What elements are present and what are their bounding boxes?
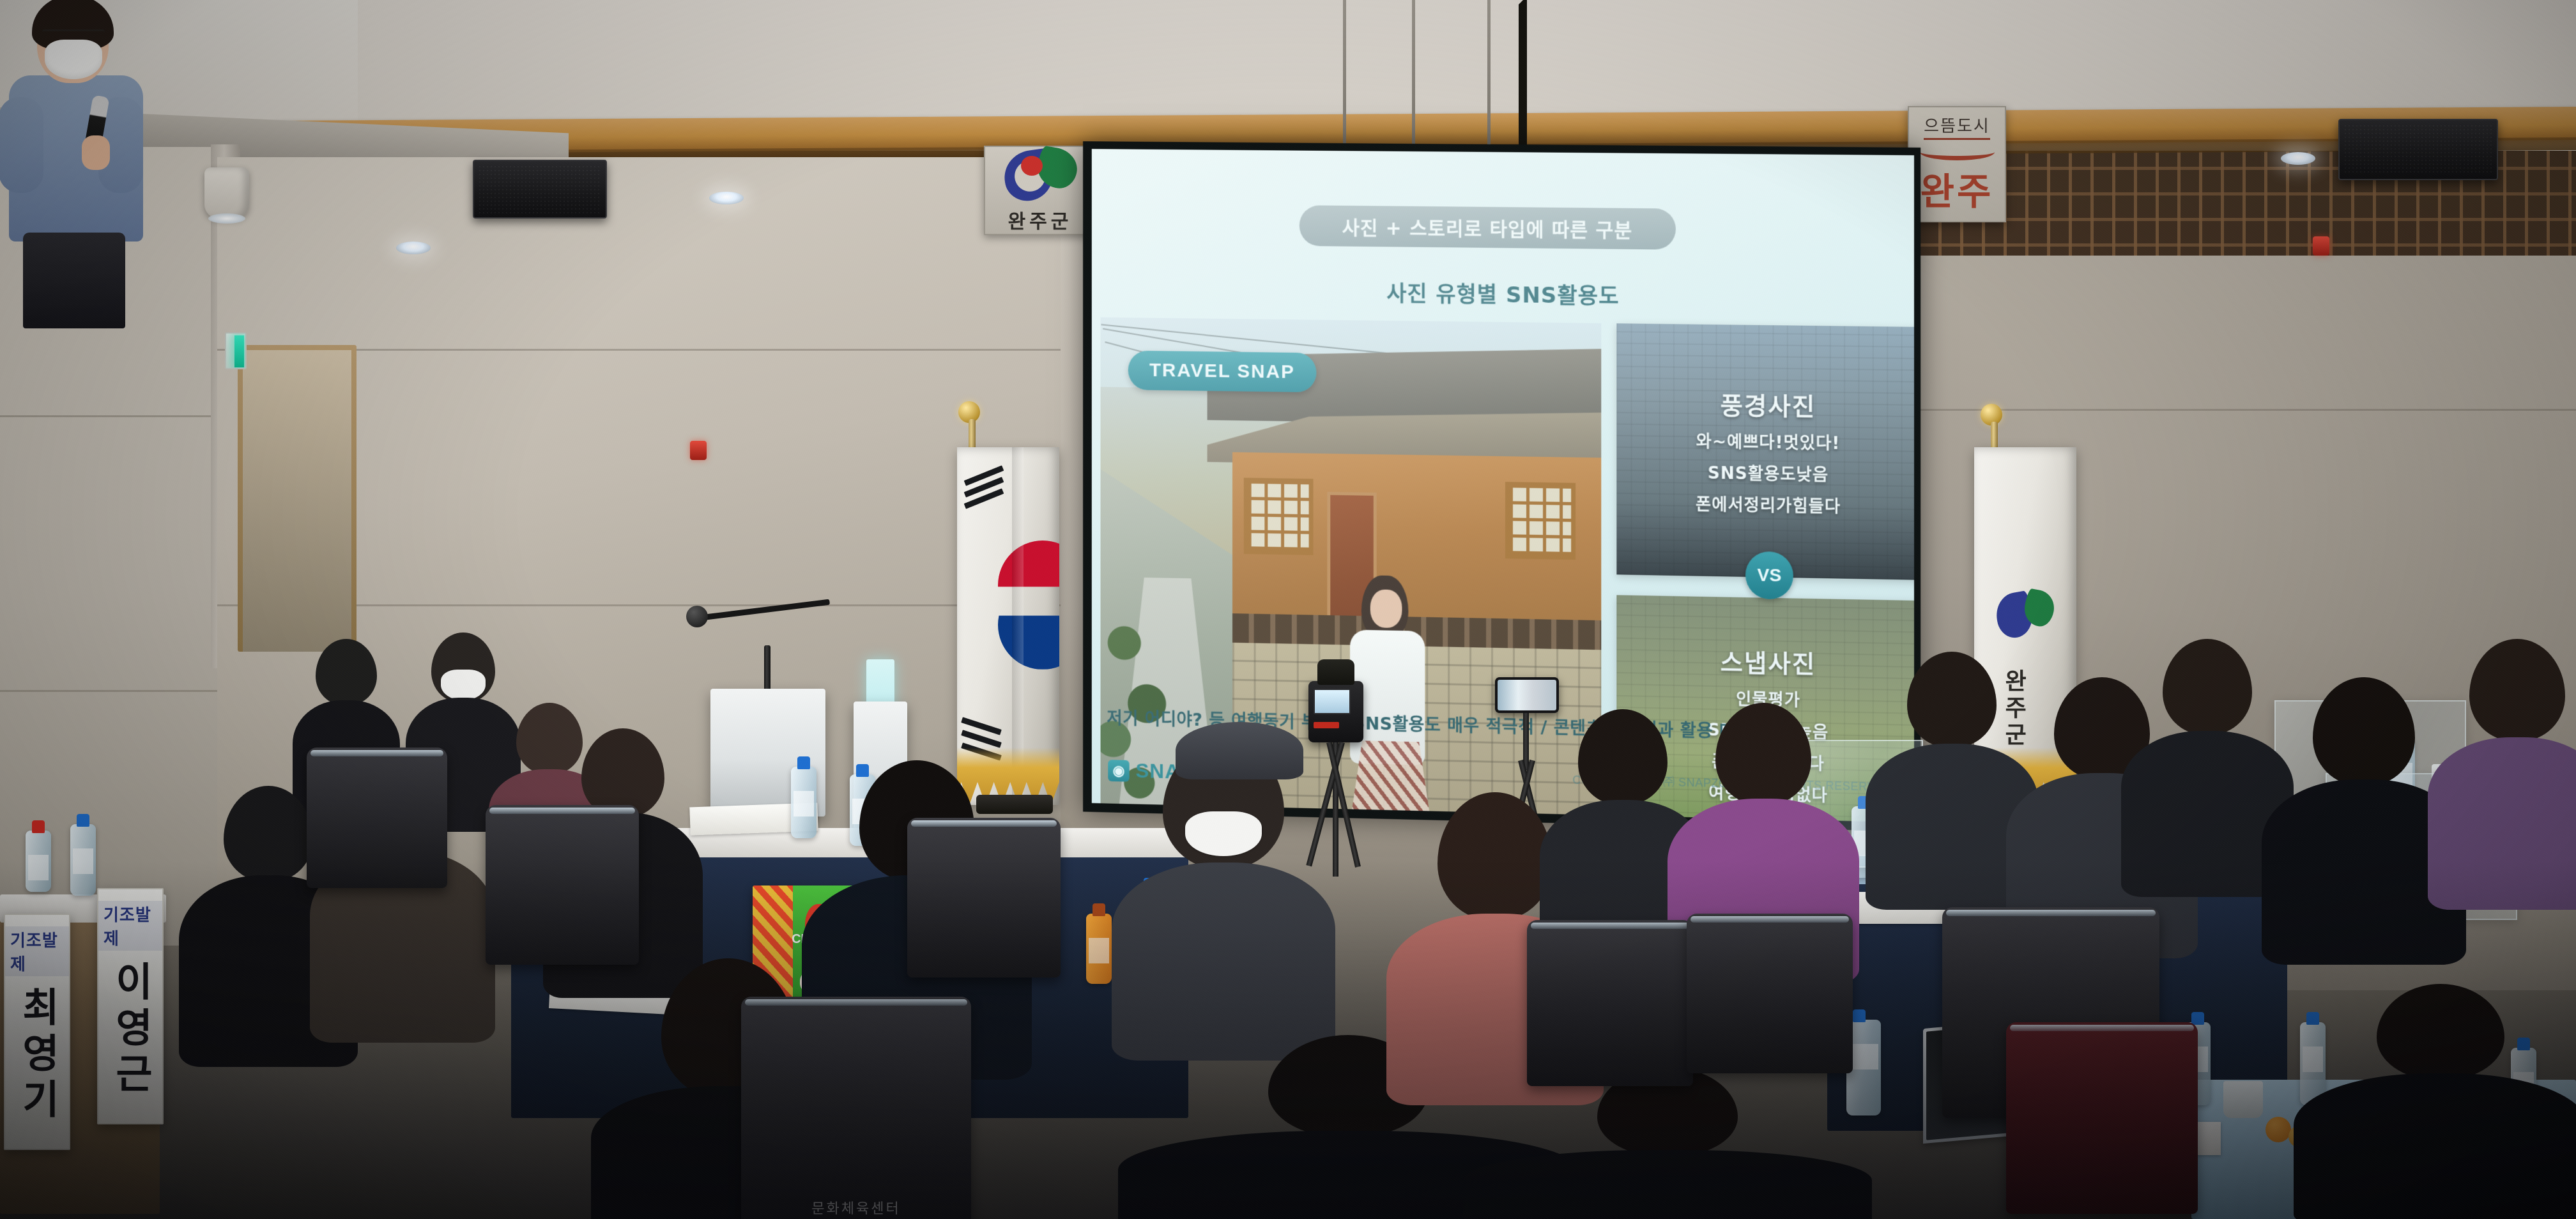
audience-member: [1469, 1067, 1866, 1219]
slogan-top-line: 으뜸도시: [1924, 113, 1990, 140]
video-camera-on-tripod[interactable]: [1308, 681, 1363, 742]
camera-lens-hood-icon: [1317, 659, 1354, 685]
auditorium-chair[interactable]: [486, 805, 639, 965]
compare-card-landscape-line-1: 와~예쁘다!멋있다!: [1696, 428, 1841, 454]
placard-role: 기조발제: [98, 901, 162, 951]
auditorium-chair[interactable]: [2006, 1022, 2198, 1214]
wall-speaker-left: [473, 160, 607, 218]
fire-alarm-device: [690, 441, 707, 460]
presenter-trousers: [23, 233, 125, 328]
name-placard: 기조발제 최영기: [4, 914, 70, 1150]
camera-lcd-screen: [1314, 689, 1351, 714]
emergency-exit-sign: [225, 332, 247, 369]
slide-title: 사진 + 스토리로 타입에 따른 구분: [1299, 205, 1676, 250]
auditorium-chair[interactable]: [1687, 914, 1853, 1073]
smartphone-on-tripod[interactable]: [1495, 677, 1559, 713]
name-placard: 기조발제 이영근: [97, 888, 164, 1124]
compare-card-landscape-line-3: 폰에서정리가힘들다: [1696, 491, 1841, 517]
wanju-emblem-icon: [1002, 147, 1078, 202]
compare-card-snap-title: 스냅사진: [1721, 642, 1816, 679]
juice-bottle: [1086, 914, 1112, 984]
audience-member: [2300, 984, 2576, 1219]
audience-hat: [1176, 722, 1303, 779]
compare-card-landscape: 풍경사진 와~예쁘다!멋있다! SNS활용도낮음 폰에서정리가힘들다: [1616, 323, 1914, 580]
ceiling-spotlight: [204, 167, 249, 218]
compare-card-landscape-title: 풍경사진: [1721, 386, 1816, 422]
compare-card-landscape-line-2: SNS활용도낮음: [1708, 460, 1828, 486]
presenter-face-mask: [45, 40, 102, 79]
auditorium-chair[interactable]: [1527, 920, 1693, 1086]
camera-record-indicator: [1314, 722, 1339, 728]
placard-role: 기조발제: [5, 926, 69, 976]
tangerine: [2265, 1117, 2291, 1142]
boom-microphone-head[interactable]: [686, 606, 708, 627]
audience-member: [1118, 741, 1329, 1041]
smile-curve-icon: [1920, 144, 1995, 160]
recessed-downlight-1: [396, 241, 431, 254]
glass-bowl: [2223, 1081, 2263, 1118]
auditorium-chair[interactable]: 문화체육센터: [741, 997, 971, 1219]
placard-name: 최영기: [8, 986, 66, 1124]
travel-snap-badge: TRAVEL SNAP: [1128, 351, 1317, 392]
doorway-left[interactable]: [238, 345, 356, 652]
presenter-hand: [82, 135, 110, 170]
recessed-downlight-3: [2281, 152, 2315, 165]
recessed-downlight-2: [709, 192, 744, 204]
presenter-arm-left: [0, 97, 43, 193]
audience-member: [2434, 639, 2576, 894]
wanju-gun-sign-text: 완주군: [1008, 206, 1073, 234]
wall-speaker-right: [2338, 119, 2498, 180]
korean-flag-icon: [957, 447, 1059, 805]
slide-subtitle: 사진 유형별 SNS활용도: [1299, 275, 1708, 311]
wanju-gun-logo-sign: 완주군: [984, 146, 1096, 235]
phone-screen-preview: [1498, 680, 1556, 710]
wanju-flag-emblem-icon: [1997, 590, 2055, 643]
chair-label: 문화체육센터: [811, 1197, 900, 1218]
vs-badge: VS: [1745, 551, 1793, 600]
auditorium-chair[interactable]: [307, 747, 447, 888]
presenter-glasses: [42, 29, 105, 40]
placard-name: 이영근: [102, 961, 159, 1099]
wanju-slogan-sign: 으뜸도시 완주: [1908, 106, 2006, 222]
water-bottle: [26, 831, 51, 892]
auditorium-chair[interactable]: [907, 818, 1061, 977]
fire-alarm-strobe: [2313, 236, 2329, 256]
slogan-main-text: 완주: [1920, 162, 1994, 215]
water-bottle: [70, 824, 96, 896]
photograph-scene: 완주군 으뜸도시 완주 사진 + 스토리로 타입에 따른 구분 사진 유형별 S…: [0, 0, 2576, 1219]
